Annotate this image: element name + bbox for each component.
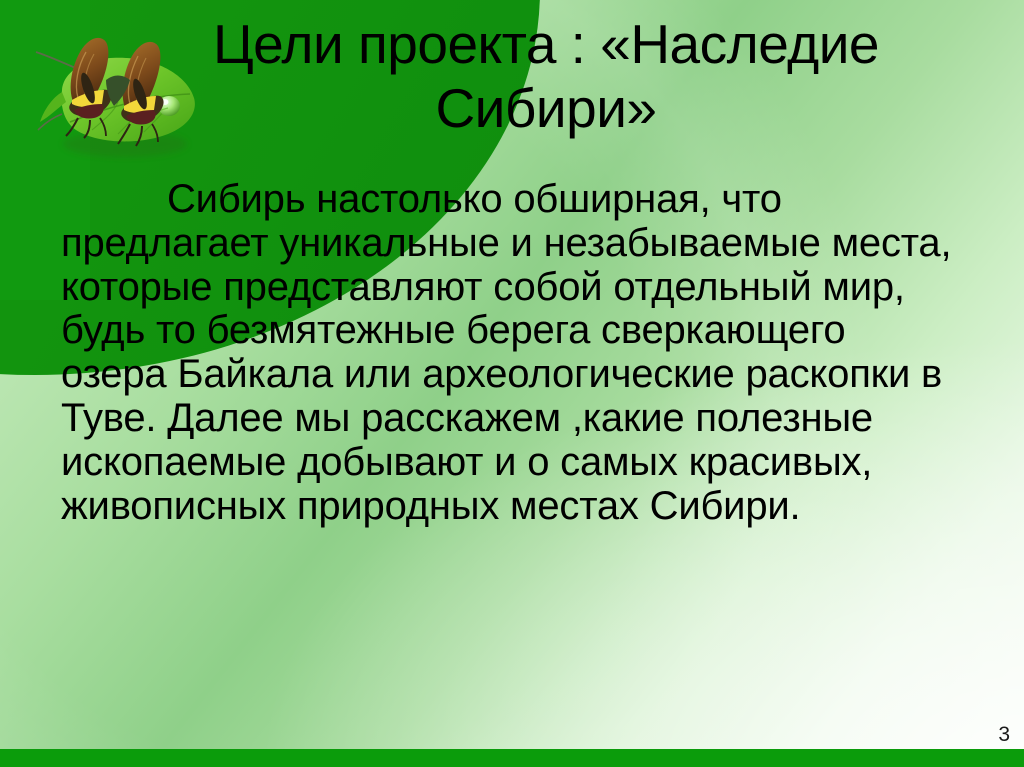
page-number: 3 (998, 724, 1010, 745)
body-paragraph: Сибирь настолько обширная, что предлагае… (61, 178, 961, 528)
bottom-accent-bar (0, 749, 1024, 767)
slide-title: Цели проекта : «Наследие Сибири» (96, 12, 996, 141)
slide-body: Сибирь настолько обширная, что предлагае… (61, 178, 961, 528)
presentation-slide: Цели проекта : «Наследие Сибири» Сибирь … (0, 0, 1024, 767)
